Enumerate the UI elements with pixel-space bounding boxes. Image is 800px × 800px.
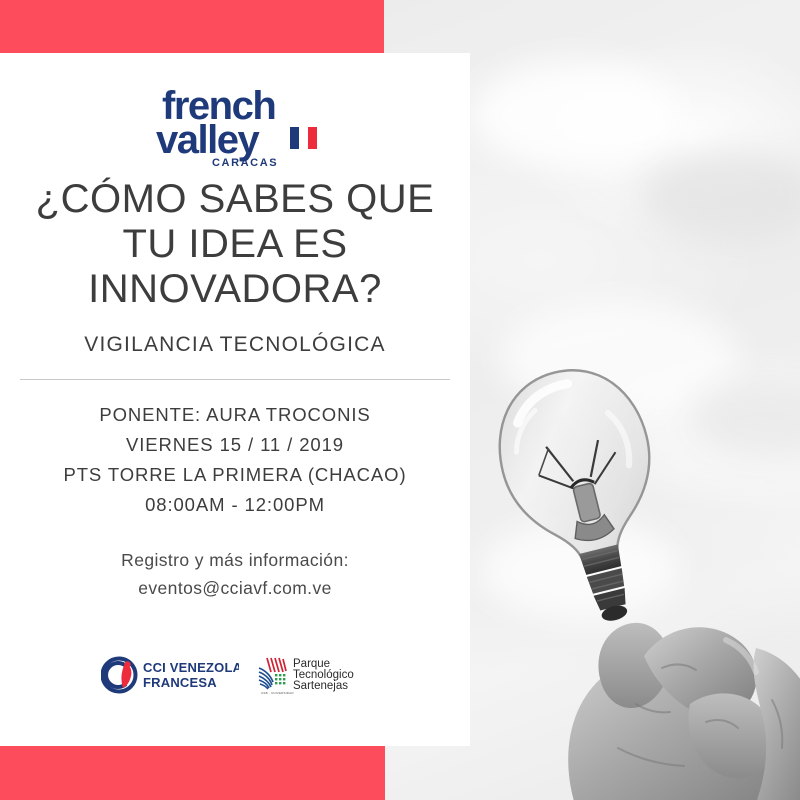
content-panel: french valley CARACAS ¿CÓMO SABES QUE TU… [0,53,470,746]
registration-info: Registro y más información: eventos@ccia… [121,546,349,602]
cloud-shape [470,60,680,170]
red-accent-bar-top [0,0,384,54]
detail-time: 08:00AM - 12:00PM [63,490,406,520]
event-details: PONENTE: AURA TROCONIS VIERNES 15 / 11 /… [63,400,406,520]
cci-circle-mark [103,659,136,692]
page-title: ¿CÓMO SABES QUE TU IDEA ES INNOVADORA? [22,177,448,311]
registration-email[interactable]: eventos@cciavf.com.ve [121,574,349,602]
event-poster: french valley CARACAS ¿CÓMO SABES QUE TU… [0,0,800,800]
headline-line-3: INNOVADORA? [88,267,382,311]
detail-date: VIERNES 15 / 11 / 2019 [63,430,406,460]
detail-speaker: PONENTE: AURA TROCONIS [63,400,406,430]
parque-tecnologico-sartenejas-logo: USB · UNIVERSIDAD Parque Tecnológico Sar… [257,654,369,696]
detail-venue: PTS TORRE LA PRIMERA (CHACAO) [63,460,406,490]
registration-label: Registro y más información: [121,546,349,574]
pts-emblem-icon: USB · UNIVERSIDAD [258,656,294,695]
hand-illustration [540,508,800,800]
french-valley-logo: french valley CARACAS [140,83,330,169]
divider [20,379,450,380]
french-flag-icon [290,127,317,149]
headline-line-2: TU IDEA ES [122,222,347,266]
pts-logo-line-4: USB · UNIVERSIDAD [261,691,294,695]
footer-logos: CCI VENEZOLANO FRANCESA [101,654,369,696]
subtitle: VIGILANCIA TECNOLÓGICA [84,333,385,357]
brand-line-2: valley [156,118,260,162]
cci-logo-line-1: CCI VENEZOLANO [143,660,239,675]
headline-line-1: ¿CÓMO SABES QUE [36,177,435,221]
cloud-shape [640,150,800,240]
pts-logo-line-3: Sartenejas [293,680,348,692]
cci-logo-line-2: FRANCESA [143,675,217,690]
brand-tagline: CARACAS [212,157,278,169]
cci-venezolano-francesa-logo: CCI VENEZOLANO FRANCESA [101,655,239,695]
red-accent-bar-bottom [0,745,385,800]
cloud-shape [690,380,800,460]
